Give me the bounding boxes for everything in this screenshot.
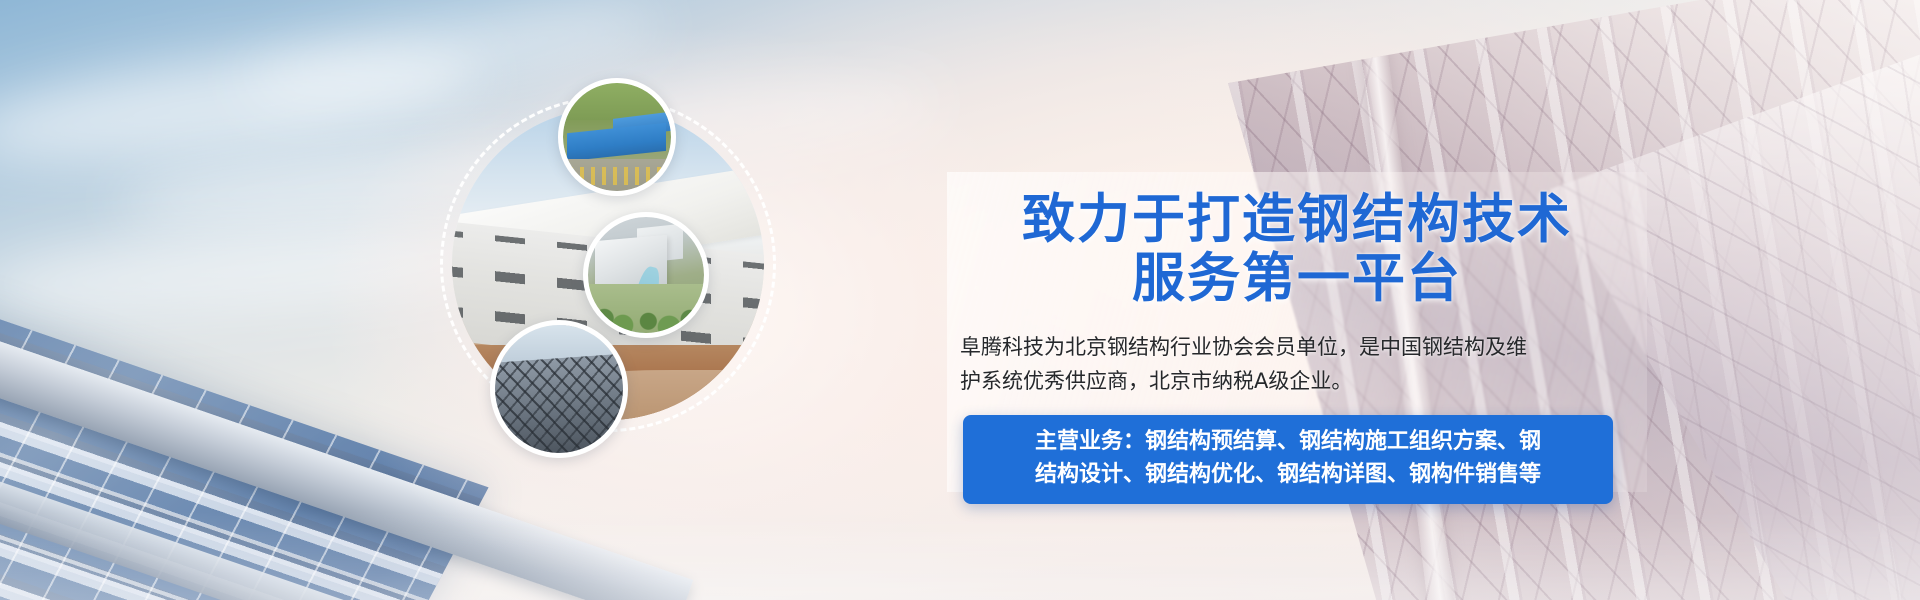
business-scope-line-1: 主营业务：钢结构预结算、钢结构施工组织方案、钢 bbox=[981, 426, 1595, 459]
subtext-line-1: 阜腾科技为北京钢结构行业协会会员单位，是中国钢结构及维 bbox=[960, 330, 1630, 364]
subtext-line-2: 护系统优秀供应商，北京市纳税A级企业。 bbox=[960, 364, 1630, 398]
banner-subtext: 阜腾科技为北京钢结构行业协会会员单位，是中国钢结构及维 护系统优秀供应商，北京市… bbox=[960, 330, 1630, 398]
business-scope-badge[interactable]: 主营业务：钢结构预结算、钢结构施工组织方案、钢 结构设计、钢结构优化、钢结构详图… bbox=[963, 415, 1613, 504]
photo-blue-roof bbox=[567, 123, 666, 162]
headline-line-1: 致力于打造钢结构技术 bbox=[947, 190, 1647, 249]
banner-headline: 致力于打造钢结构技术 服务第一平台 bbox=[947, 190, 1647, 309]
photo-flower-beds bbox=[569, 167, 664, 184]
collage-thumb-steel-truss bbox=[495, 325, 623, 453]
collage-thumb-factory bbox=[563, 83, 671, 191]
hero-banner: 致力于打造钢结构技术 服务第一平台 阜腾科技为北京钢结构行业协会会员单位，是中国… bbox=[0, 0, 1920, 600]
collage-thumb-campus bbox=[588, 217, 704, 333]
headline-line-2: 服务第一平台 bbox=[947, 249, 1647, 308]
photo-space-frame bbox=[495, 353, 623, 453]
business-scope-line-2: 结构设计、钢结构优化、钢结构详图、钢构件销售等 bbox=[981, 459, 1595, 492]
